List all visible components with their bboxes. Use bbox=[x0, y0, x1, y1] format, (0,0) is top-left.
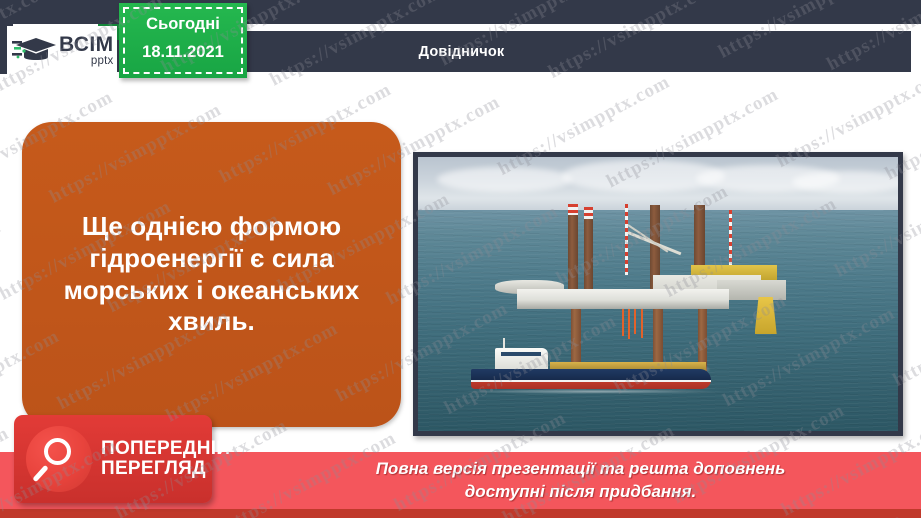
preview-badge-line2: ПЕРЕГЛЯД bbox=[101, 459, 230, 479]
magnifier-icon bbox=[26, 426, 92, 492]
photo-offshore-platform bbox=[413, 152, 903, 436]
graduation-cap-icon bbox=[12, 34, 58, 68]
preview-badge-line1: ПОПЕРЕДНІЙ bbox=[101, 439, 230, 459]
date-badge-date: 18.11.2021 bbox=[119, 43, 247, 62]
date-badge-label: Сьогодні bbox=[119, 15, 247, 34]
logo-brand-text: ВСІМ bbox=[59, 34, 113, 55]
logo[interactable]: ВСІМ pptx bbox=[7, 26, 117, 75]
slide: Довідничок ВСІМ pptx Сьогодні 18.11.2021… bbox=[0, 0, 921, 518]
preview-badge[interactable]: ПОПЕРЕДНІЙ ПЕРЕГЛЯД bbox=[14, 415, 212, 503]
date-badge: Сьогодні 18.11.2021 bbox=[119, 3, 247, 78]
purchase-banner-text: Повна версія презентації та решта доповн… bbox=[250, 458, 911, 504]
callout-text: Ще однією формою гідроенергії є сила мор… bbox=[22, 211, 401, 338]
preview-badge-text: ПОПЕРЕДНІЙ ПЕРЕГЛЯД bbox=[101, 439, 230, 479]
photo-supply-vessel bbox=[471, 349, 711, 396]
logo-sub-text: pptx bbox=[59, 56, 113, 68]
purchase-banner-line2: доступні після придбання. bbox=[250, 481, 911, 504]
purchase-banner-line1: Повна версія презентації та решта доповн… bbox=[250, 458, 911, 481]
callout-box: Ще однією формою гідроенергії є сила мор… bbox=[22, 122, 401, 427]
